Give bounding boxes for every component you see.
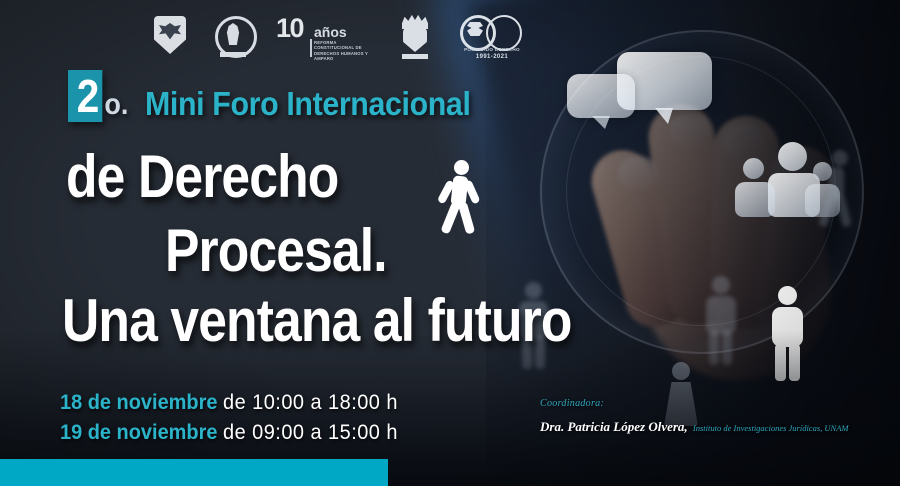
event-title-line3: Procesal. — [165, 222, 387, 280]
schedule-row: 18 de noviembre de 10:00 a 18:00 h — [60, 388, 398, 418]
event-banner: 10 años Reforma Constitucional de Derech… — [0, 0, 900, 486]
coordinator-name: Dra. Patricia López Olvera, — [540, 419, 688, 434]
coordinator-label: Coordinadora: — [540, 398, 849, 409]
headline-block: 2 o. Mini Foro Internacional de Derecho … — [0, 0, 900, 486]
edition-number-badge: 2 — [68, 70, 102, 122]
schedule-time: de 09:00 a 15:00 h — [223, 421, 398, 444]
bottom-accent-bar — [0, 459, 388, 486]
coordinator-name-row: Dra. Patricia López Olvera, Instituto de… — [540, 419, 849, 435]
schedule-row: 19 de noviembre de 09:00 a 15:00 h — [60, 418, 398, 448]
schedule-day: 18 de noviembre — [60, 391, 217, 414]
coordinator-affiliation: Instituto de Investigaciones Jurídicas, … — [693, 423, 849, 433]
event-title-main: Mini Foro Internacional — [145, 87, 471, 120]
edition-ordinal: o. — [104, 90, 128, 120]
schedule-block: 18 de noviembre de 10:00 a 18:00 h 19 de… — [60, 388, 416, 448]
schedule-day: 19 de noviembre — [60, 421, 217, 444]
event-title-line2: de Derecho — [66, 148, 338, 206]
title-line-1: 2 o. Mini Foro Internacional — [68, 70, 499, 122]
coordinator-block: Coordinadora: Dra. Patricia López Olvera… — [540, 398, 849, 435]
event-title-line4: Una ventana al futuro — [62, 292, 571, 350]
schedule-time: de 10:00 a 18:00 h — [223, 391, 398, 414]
